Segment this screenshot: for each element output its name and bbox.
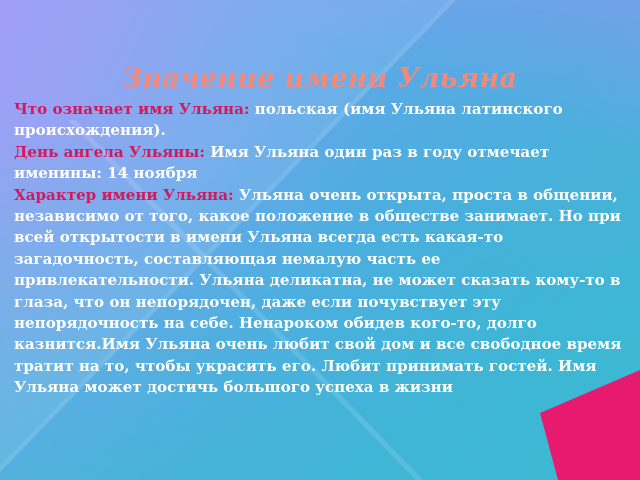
section-lead-character: Характер имени Ульяна: (14, 186, 234, 204)
section-lead-angel-day: День ангела Ульяны: (14, 143, 205, 161)
slide-canvas: Значение имени Ульяна Что означает имя У… (0, 0, 640, 480)
page-title: Значение имени Ульяна (0, 64, 640, 94)
section-character: Характер имени Ульяна: Ульяна очень откр… (14, 185, 622, 399)
body-text-block: Что означает имя Ульяна: польская (имя У… (14, 99, 622, 399)
section-angel-day: День ангела Ульяны: Имя Ульяна один раз … (14, 142, 622, 185)
section-lead-what-means: Что означает имя Ульяна: (14, 100, 249, 118)
section-what-means: Что означает имя Ульяна: польская (имя У… (14, 99, 622, 142)
section-body-character: Ульяна очень открыта, проста в общении, … (14, 186, 621, 397)
